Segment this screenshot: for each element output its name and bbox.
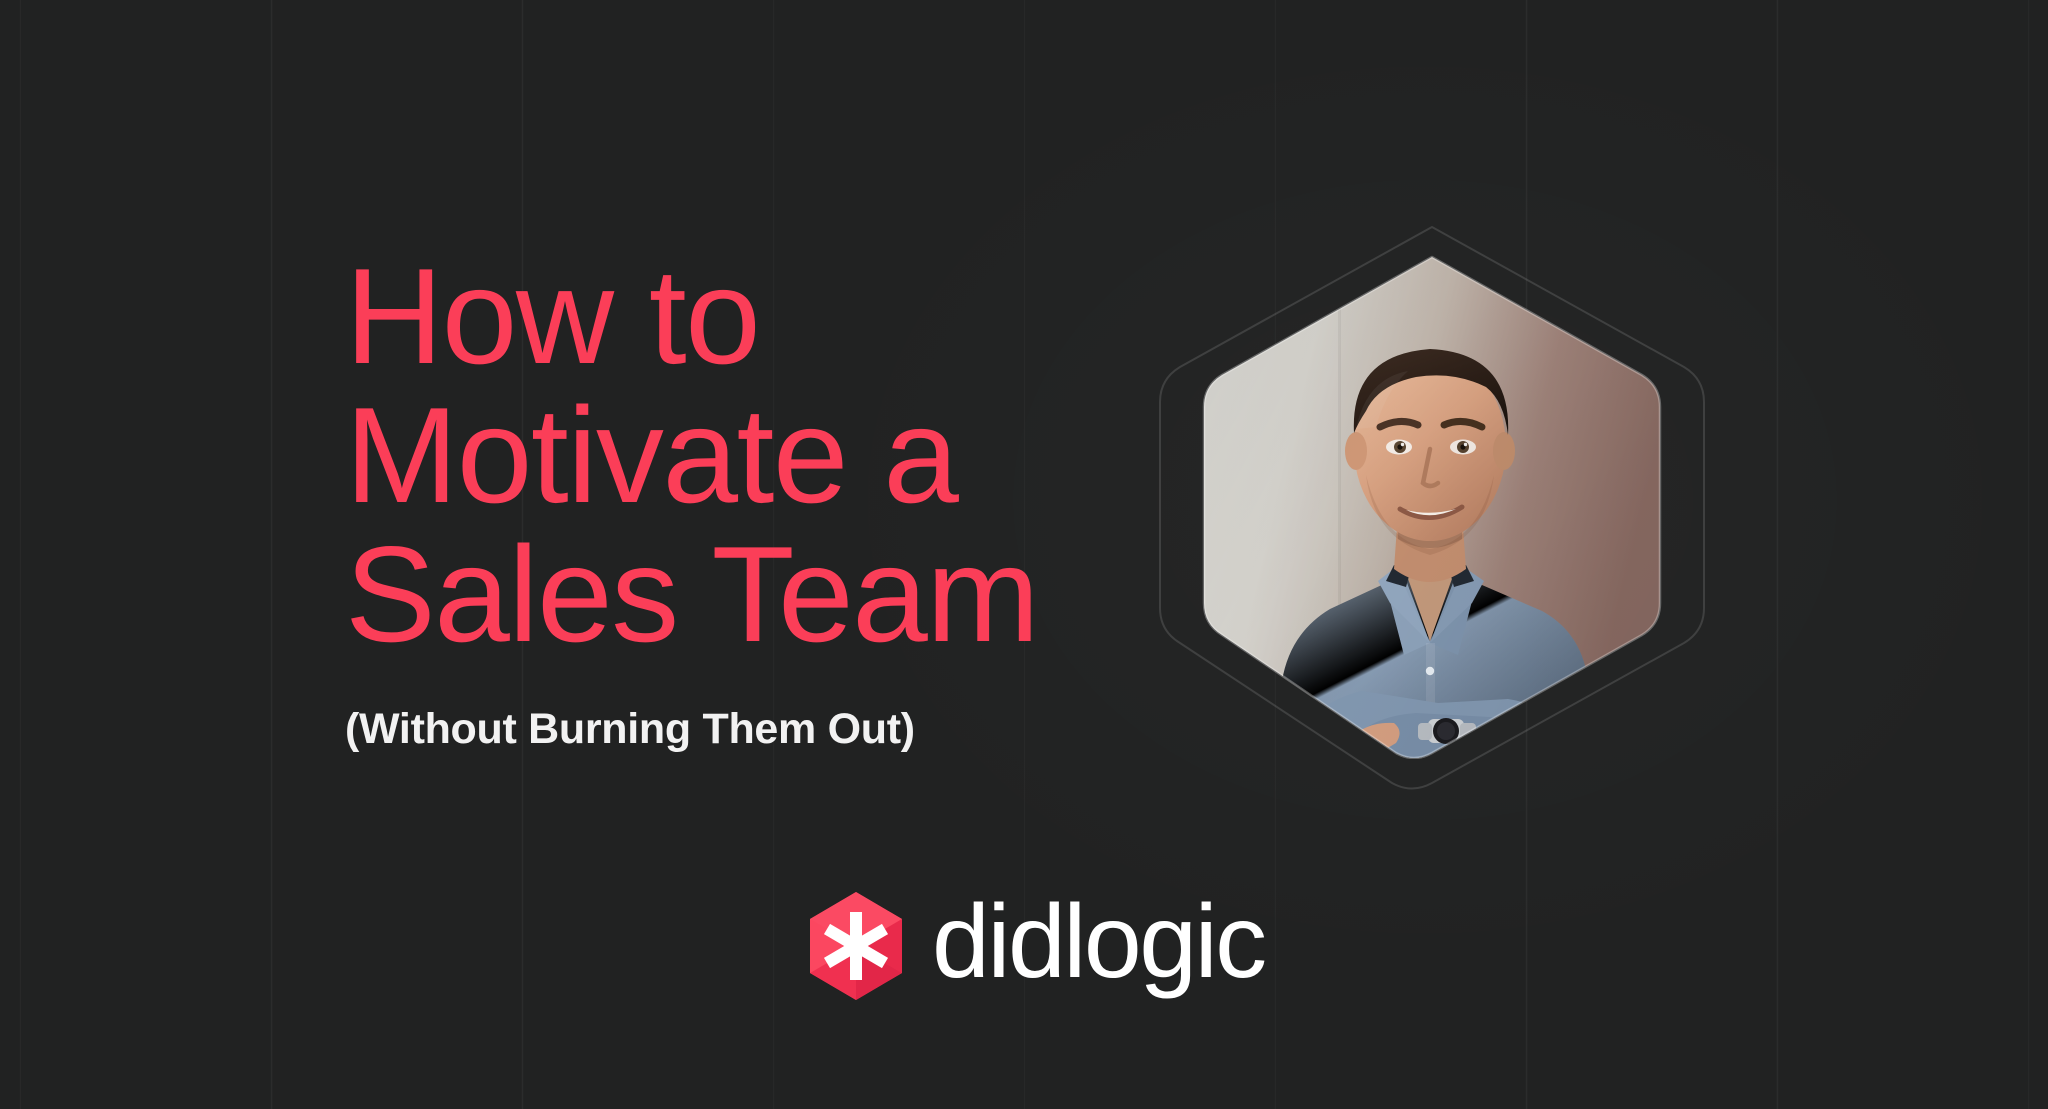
portrait-hexagon [1148,215,1716,795]
didlogic-logo[interactable]: didlogic [808,890,1265,1002]
headline-block: How to Motivate a Sales Team [345,248,1165,662]
didlogic-hexagon-asterisk-icon [808,890,904,1002]
cover-canvas: How to Motivate a Sales Team (Without Bu… [0,0,2048,1109]
didlogic-wordmark: didlogic [932,890,1265,994]
headline-line-2: Motivate a [345,387,1165,523]
headline-line-1: How to [345,248,1165,384]
portrait-photo [1190,251,1674,759]
headline-line-3: Sales Team [345,526,1165,662]
subtitle: (Without Burning Them Out) [345,705,915,753]
